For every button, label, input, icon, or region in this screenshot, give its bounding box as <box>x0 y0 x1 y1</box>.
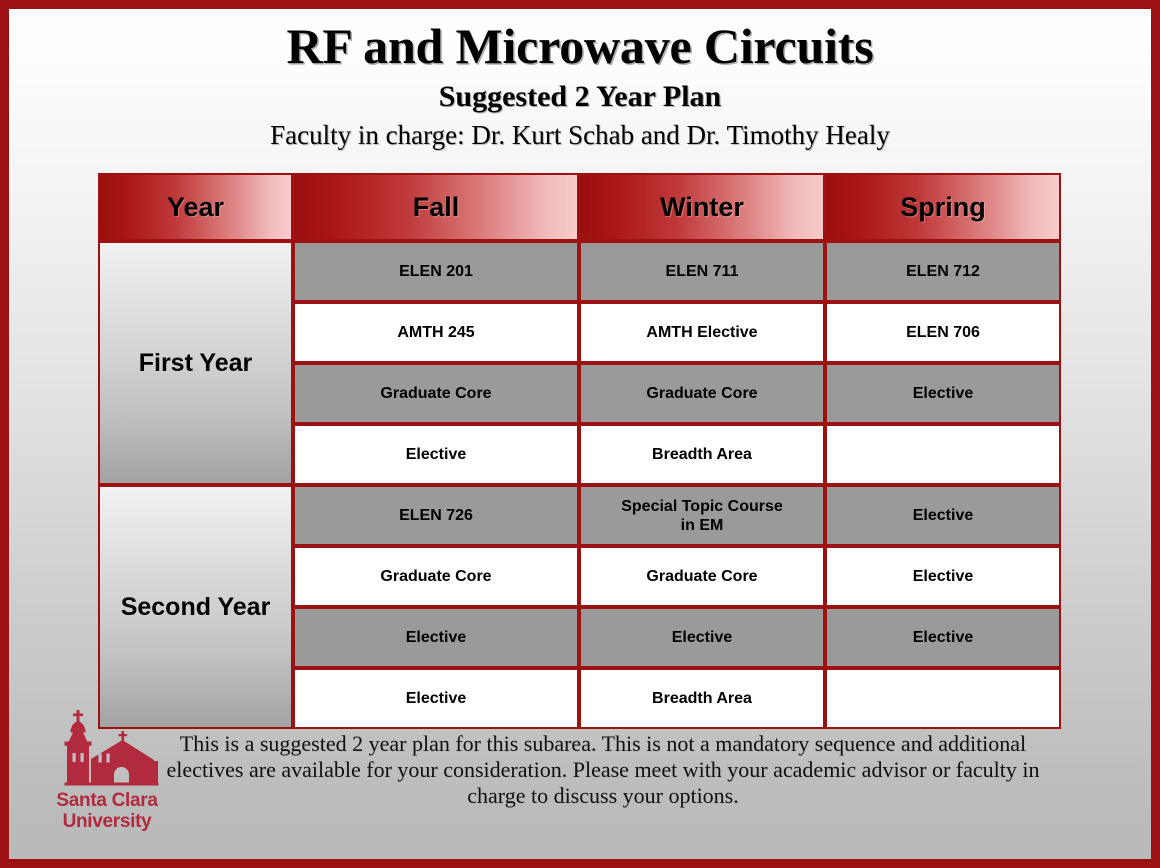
course-cell-fall: Graduate Core <box>293 546 579 607</box>
course-cell-winter: Breadth Area <box>579 424 825 485</box>
course-cell-spring: ELEN 706 <box>825 302 1061 363</box>
scu-wordmark-line2: University <box>31 811 183 832</box>
table-body: First YearELEN 201ELEN 711ELEN 712AMTH 2… <box>98 241 1061 729</box>
course-cell-fall: AMTH 245 <box>293 302 579 363</box>
scu-wordmark: Santa Clara University <box>31 790 183 832</box>
faculty-in-charge: Faculty in charge: Dr. Kurt Schab and Dr… <box>9 118 1151 152</box>
course-cell-winter: Graduate Core <box>579 546 825 607</box>
course-cell-fall: Elective <box>293 607 579 668</box>
year-group-label: Second Year <box>98 485 293 729</box>
column-header-year: Year <box>98 173 293 241</box>
course-cell-spring <box>825 668 1061 729</box>
course-cell-fall: Elective <box>293 668 579 729</box>
slide-canvas: RF and Microwave Circuits Suggested 2 Ye… <box>0 0 1160 868</box>
course-cell-spring: ELEN 712 <box>825 241 1061 302</box>
two-year-plan-table: Year Fall Winter Spring First YearELEN 2… <box>98 173 1061 729</box>
mission-church-icon <box>42 709 172 789</box>
table-row: First YearELEN 201ELEN 711ELEN 712 <box>98 241 1061 302</box>
table-head: Year Fall Winter Spring <box>98 173 1061 241</box>
table-header-row: Year Fall Winter Spring <box>98 173 1061 241</box>
course-cell-spring <box>825 424 1061 485</box>
page-title: RF and Microwave Circuits <box>9 17 1151 75</box>
scu-wordmark-line1: Santa Clara <box>56 790 157 811</box>
table-row: Second YearELEN 726Special Topic Coursei… <box>98 485 1061 546</box>
course-cell-spring: Elective <box>825 363 1061 424</box>
course-cell-winter: AMTH Elective <box>579 302 825 363</box>
course-cell-fall: ELEN 726 <box>293 485 579 546</box>
page-subtitle: Suggested 2 Year Plan <box>9 78 1151 116</box>
column-header-winter: Winter <box>579 173 825 241</box>
course-cell-fall: Elective <box>293 424 579 485</box>
course-cell-spring: Elective <box>825 546 1061 607</box>
footer-note: This is a suggested 2 year plan for this… <box>157 731 1049 809</box>
course-cell-winter: Graduate Core <box>579 363 825 424</box>
course-cell-spring: Elective <box>825 607 1061 668</box>
column-header-spring: Spring <box>825 173 1061 241</box>
course-cell-winter: Breadth Area <box>579 668 825 729</box>
course-cell-fall: Graduate Core <box>293 363 579 424</box>
slide-header: RF and Microwave Circuits Suggested 2 Ye… <box>9 9 1151 152</box>
course-cell-winter: Elective <box>579 607 825 668</box>
course-cell-winter: ELEN 711 <box>579 241 825 302</box>
course-cell-fall: ELEN 201 <box>293 241 579 302</box>
scu-logo: Santa Clara University <box>31 709 183 832</box>
course-cell-spring: Elective <box>825 485 1061 546</box>
year-group-label: First Year <box>98 241 293 485</box>
course-cell-winter: Special Topic Coursein EM <box>579 485 825 546</box>
column-header-fall: Fall <box>293 173 579 241</box>
